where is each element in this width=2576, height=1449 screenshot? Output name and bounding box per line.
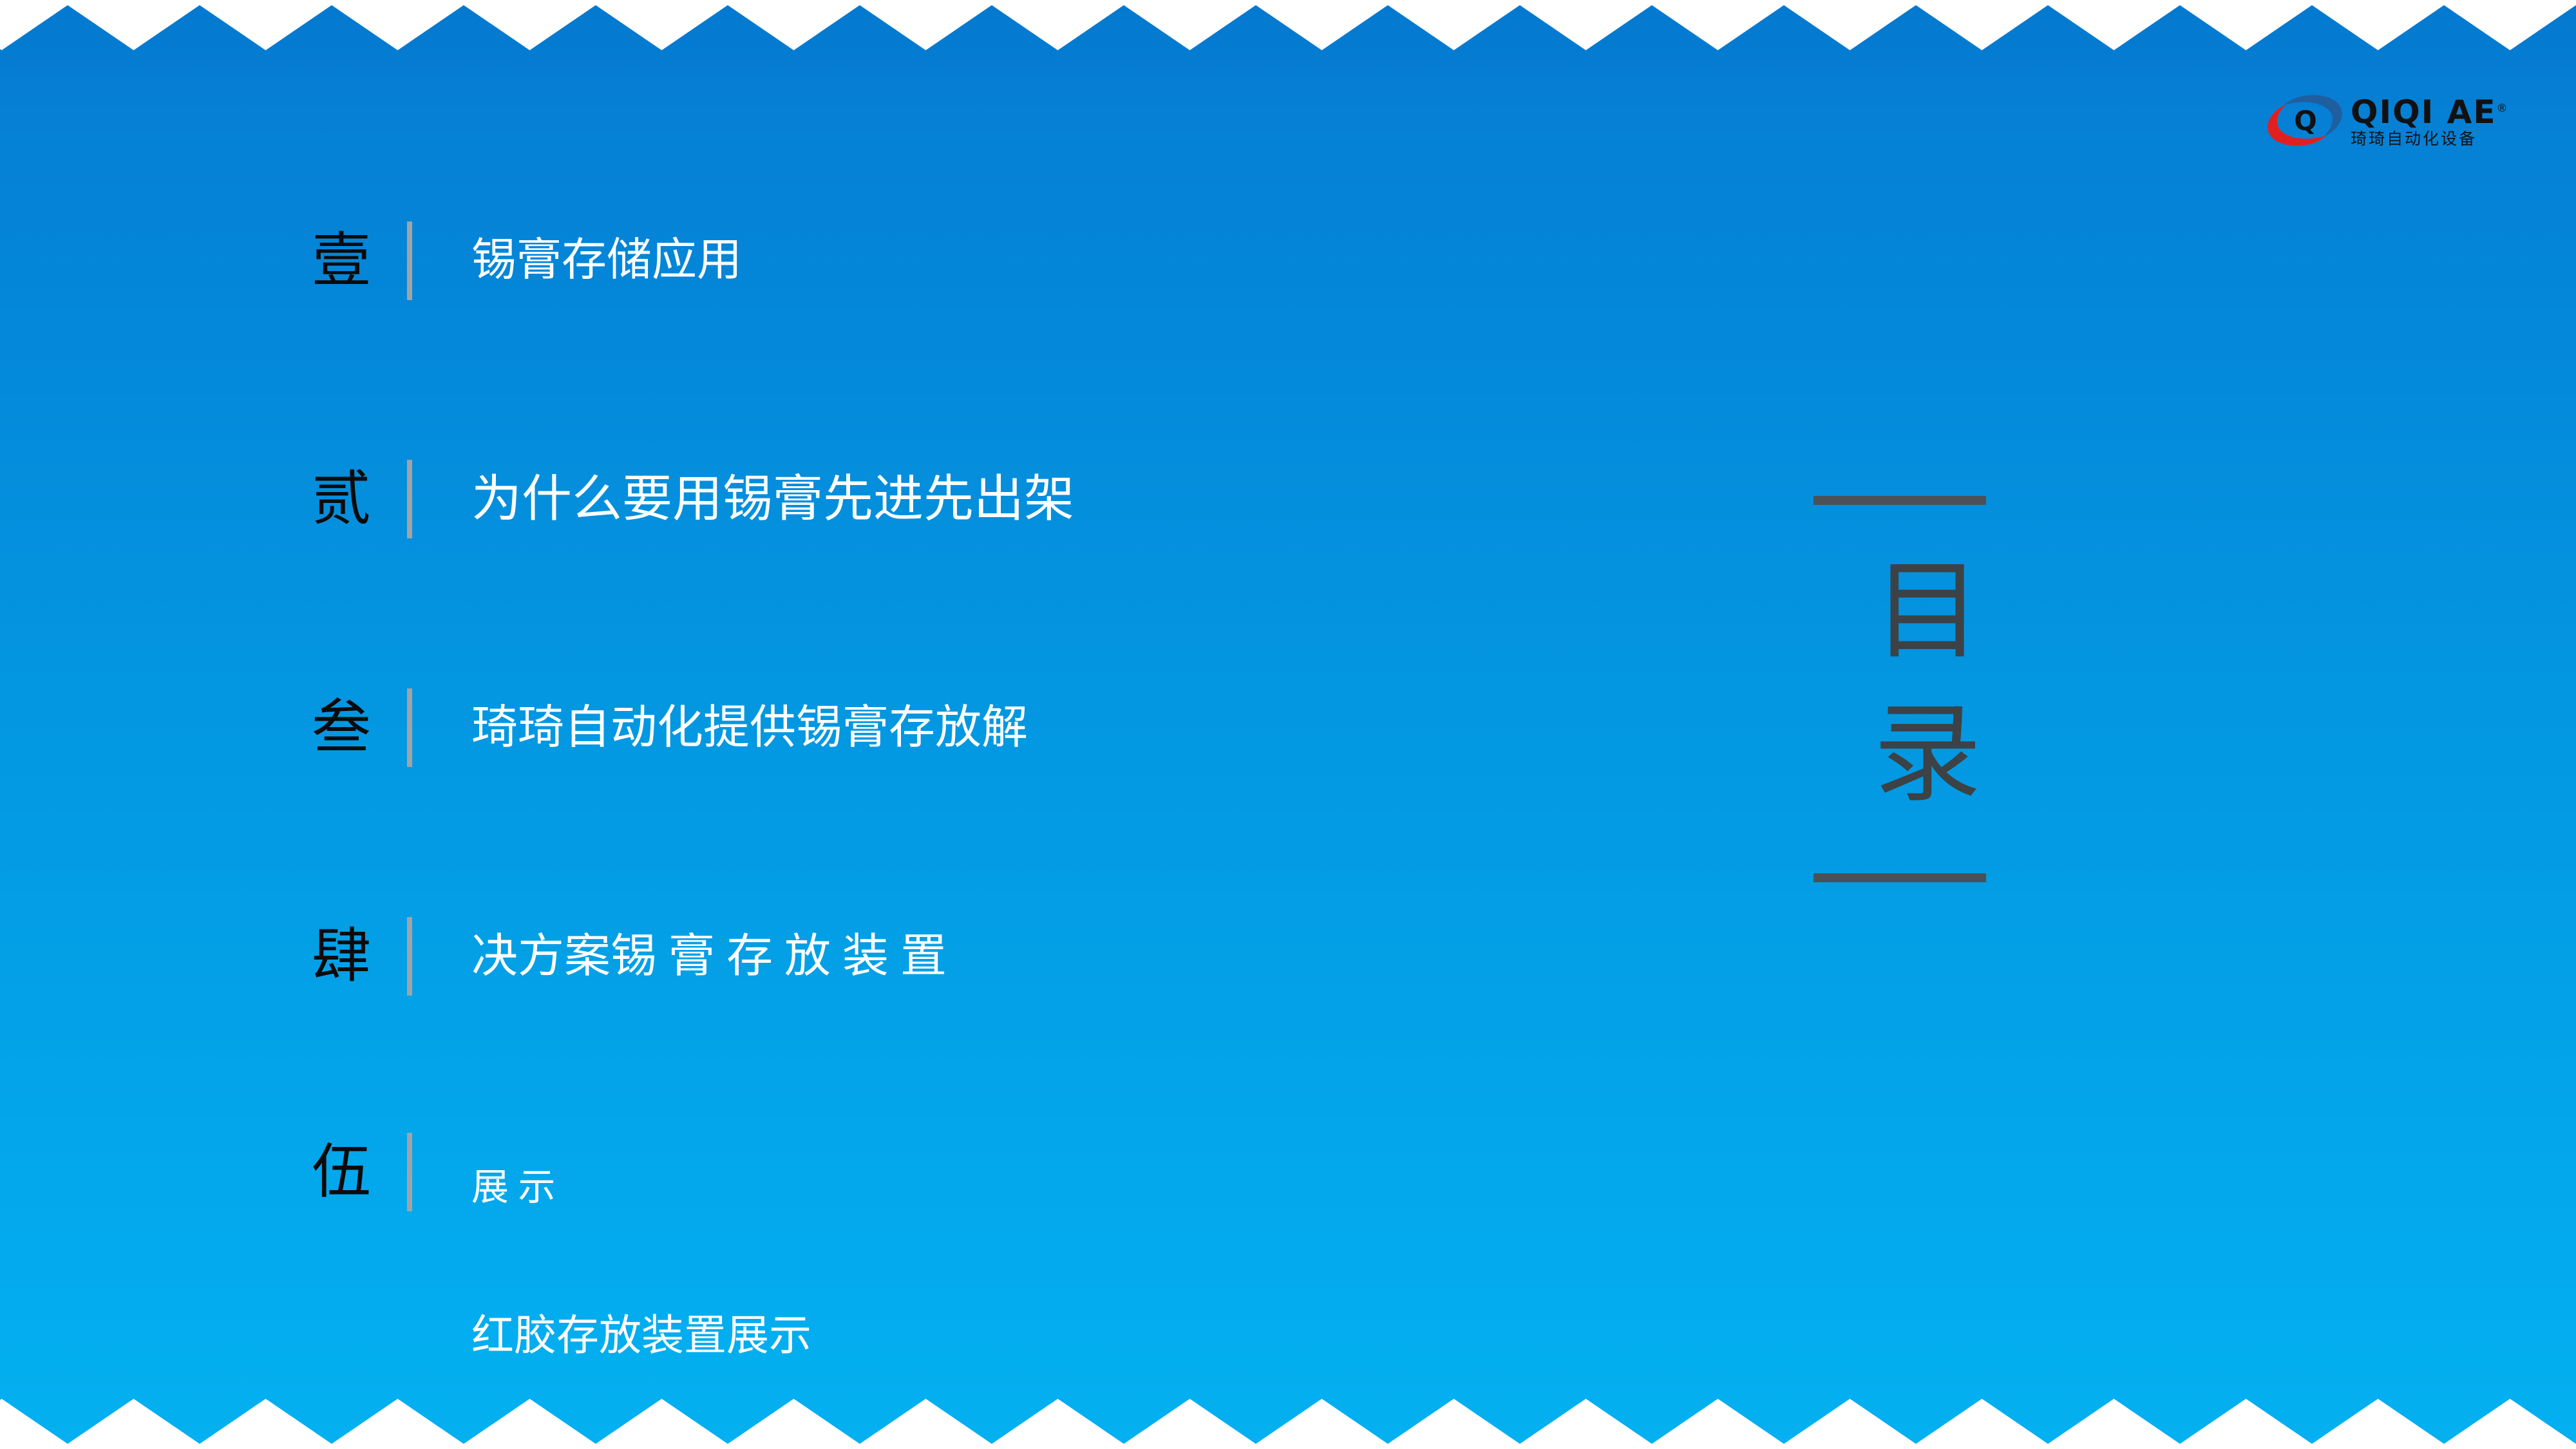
section-title-rule-bottom bbox=[1814, 873, 1986, 882]
logo-text-block: QIQI AE® 琦琦自动化设备 bbox=[2351, 96, 2508, 147]
agenda-label: 红胶存放装置展示 bbox=[471, 1315, 811, 1358]
agenda-label: 展 示 bbox=[471, 1169, 556, 1206]
registered-trademark-icon: ® bbox=[2496, 102, 2508, 115]
logo-wordmark: QIQI AE® bbox=[2351, 96, 2508, 128]
agenda-item-3[interactable]: 叁 琦琦自动化提供锡膏存放解 bbox=[303, 679, 1028, 776]
agenda-divider bbox=[407, 1133, 412, 1211]
svg-text:Q: Q bbox=[2294, 105, 2317, 137]
agenda-numeral: 叁 bbox=[303, 698, 380, 757]
agenda-item-6[interactable]: 红胶存放装置展示 bbox=[303, 1288, 811, 1385]
section-title-group: 目录 bbox=[1797, 496, 2003, 882]
agenda-numeral: 伍 bbox=[303, 1142, 380, 1202]
agenda-item-5[interactable]: 伍 展 示 bbox=[303, 1124, 556, 1220]
agenda-label: 锡膏存储应用 bbox=[471, 238, 742, 283]
agenda-numeral: 贰 bbox=[303, 469, 380, 529]
agenda-divider bbox=[407, 917, 412, 996]
zigzag-edge-bottom bbox=[0, 1397, 2576, 1449]
agenda-divider bbox=[407, 688, 412, 767]
company-logo: Q QIQI AE® 琦琦自动化设备 bbox=[2264, 90, 2535, 152]
agenda-label: 琦琦自动化提供锡膏存放解 bbox=[471, 705, 1028, 751]
agenda-numeral: 肆 bbox=[303, 927, 380, 986]
agenda-divider bbox=[407, 460, 412, 538]
agenda-item-1[interactable]: 壹 锡膏存储应用 bbox=[303, 213, 742, 309]
slide-canvas: 目录 壹 锡膏存储应用 贰 为什么要用锡膏先进先出架 叁 琦琦自动化提供锡膏存放… bbox=[0, 0, 2576, 1449]
agenda-numeral: 壹 bbox=[303, 231, 380, 290]
section-title-text: 目录 bbox=[1816, 545, 1984, 848]
logo-subtext: 琦琦自动化设备 bbox=[2351, 131, 2508, 147]
agenda-list: 壹 锡膏存储应用 贰 为什么要用锡膏先进先出架 叁 琦琦自动化提供锡膏存放解 肆… bbox=[0, 0, 1674, 1449]
section-title-rule-top bbox=[1814, 496, 1986, 505]
agenda-label: 为什么要用锡膏先进先出架 bbox=[471, 474, 1074, 524]
agenda-item-4[interactable]: 肆 决方案锡 膏 存 放 装 置 bbox=[303, 908, 947, 1005]
logo-wordmark-text: QIQI AE bbox=[2351, 93, 2496, 131]
agenda-item-2[interactable]: 贰 为什么要用锡膏先进先出架 bbox=[303, 451, 1074, 547]
agenda-divider bbox=[407, 222, 412, 300]
qiqi-swoosh-icon: Q bbox=[2264, 90, 2347, 152]
zigzag-edge-top bbox=[0, 0, 2576, 52]
agenda-label: 决方案锡 膏 存 放 装 置 bbox=[471, 933, 947, 980]
